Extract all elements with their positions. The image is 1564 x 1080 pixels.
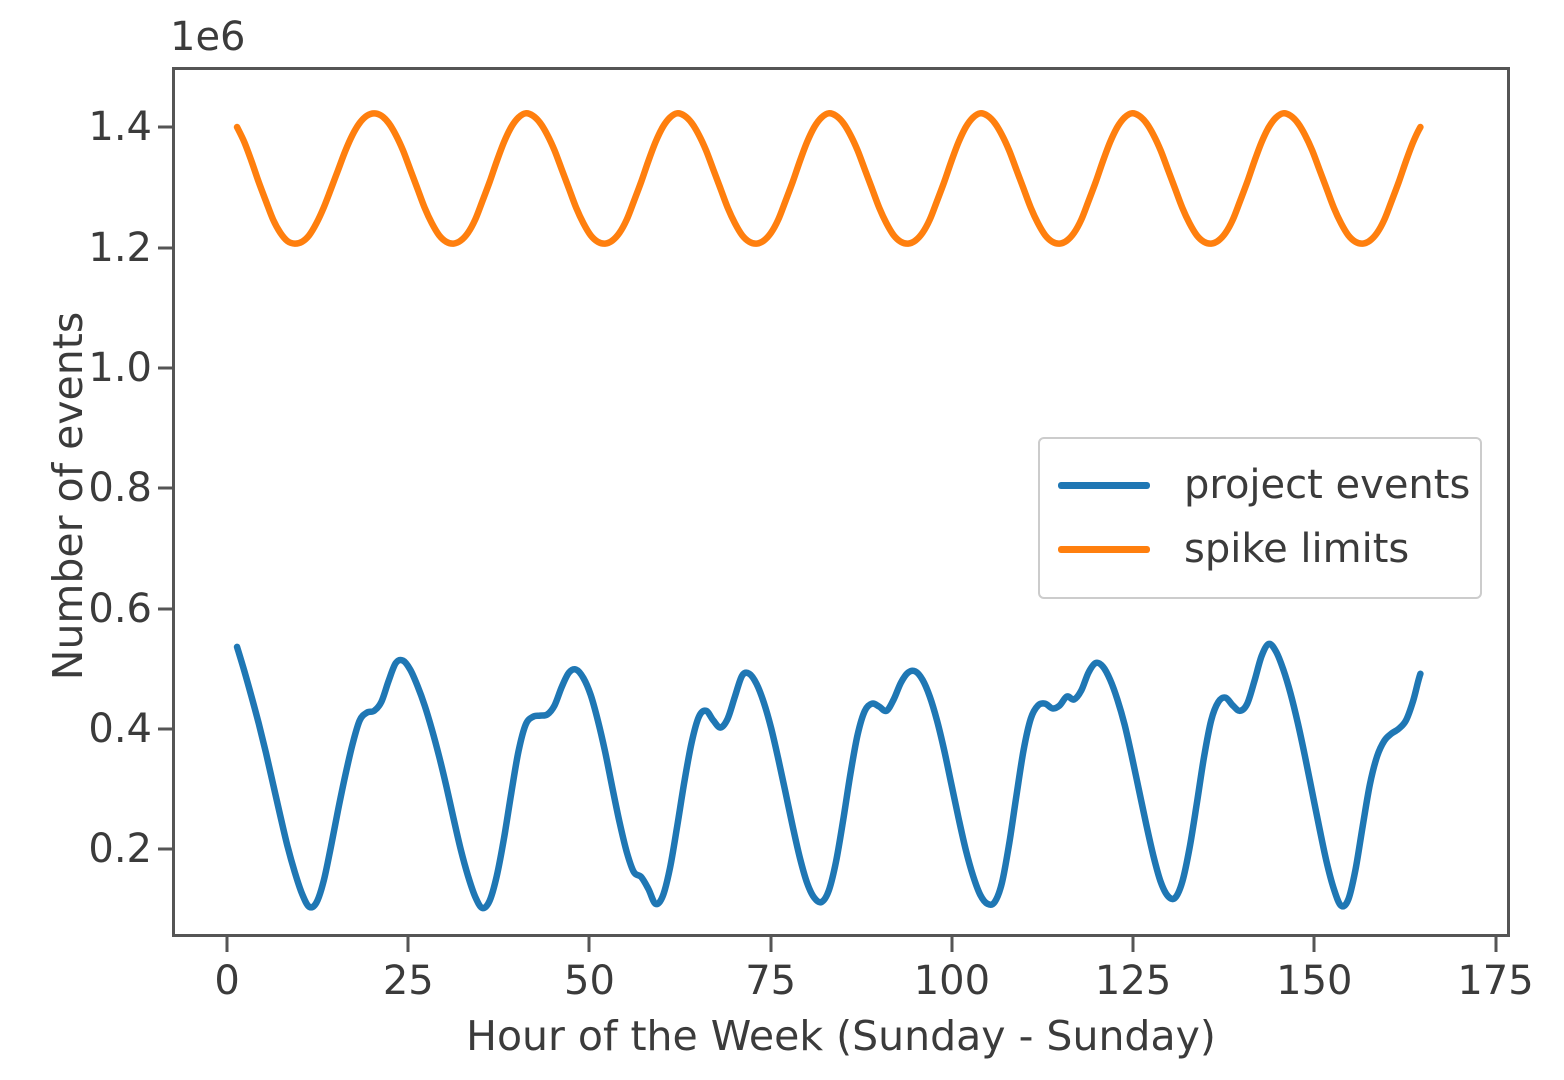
chart-page: 1e6 0.20.40.60.81.01.21.4 02550751001251… [0, 0, 1564, 1080]
y-tick-mark [158, 246, 172, 249]
x-tick-mark [588, 937, 591, 952]
line-project-events [237, 644, 1420, 908]
x-axis-title: Hour of the Week (Sunday - Sunday) [172, 1012, 1510, 1060]
legend-item-project-events[interactable]: project events [1058, 453, 1462, 517]
x-tick-label: 50 [564, 958, 615, 1004]
y-tick-mark [158, 607, 172, 610]
y-tick-mark [158, 848, 172, 851]
legend-swatch-spike-limits [1058, 546, 1150, 553]
x-tick-mark [1494, 937, 1497, 952]
legend-item-spike-limits[interactable]: spike limits [1058, 517, 1462, 581]
x-tick-label: 0 [214, 958, 239, 1004]
legend-label-spike-limits: spike limits [1184, 526, 1409, 572]
x-tick-label: 100 [914, 958, 990, 1004]
y-tick-mark [158, 367, 172, 370]
x-tick-label: 150 [1276, 958, 1352, 1004]
line-spike-limits [237, 113, 1420, 243]
y-tick-mark [158, 126, 172, 129]
y-tick-label: 0.2 [2, 826, 152, 872]
x-tick-mark [407, 937, 410, 952]
y-tick-mark [158, 728, 172, 731]
legend[interactable]: project events spike limits [1038, 437, 1482, 599]
y-tick-mark [158, 487, 172, 490]
y-axis-offset-label: 1e6 [170, 14, 246, 60]
x-tick-label: 75 [745, 958, 796, 1004]
x-tick-label: 175 [1457, 958, 1533, 1004]
legend-label-project-events: project events [1184, 462, 1470, 508]
y-axis-title: Number of events [44, 196, 92, 796]
legend-swatch-project-events [1058, 482, 1150, 489]
x-tick-mark [950, 937, 953, 952]
x-tick-mark [1132, 937, 1135, 952]
x-tick-label: 25 [383, 958, 434, 1004]
x-tick-mark [1313, 937, 1316, 952]
x-tick-mark [769, 937, 772, 952]
x-tick-mark [226, 937, 229, 952]
y-tick-label: 1.4 [2, 104, 152, 150]
x-tick-label: 125 [1095, 958, 1171, 1004]
